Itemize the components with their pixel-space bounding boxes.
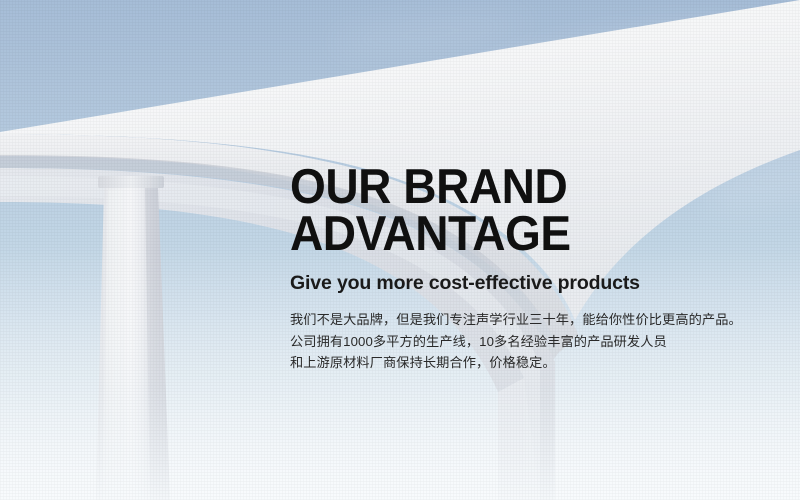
body-line-3: 和上游原材料厂商保持长期合作，价格稳定。	[290, 352, 760, 374]
body-copy: 我们不是大品牌，但是我们专注声学行业三十年，能给你性价比更高的产品。 公司拥有1…	[290, 309, 760, 374]
body-line-2: 公司拥有1000多平方的生产线，10多名经验丰富的产品研发人员	[290, 331, 760, 353]
column-capital	[98, 176, 164, 188]
brand-advantage-banner: OUR BRAND ADVANTAGE Give you more cost-e…	[0, 0, 800, 500]
subtitle: Give you more cost-effective products	[290, 272, 760, 295]
page-title: OUR BRAND ADVANTAGE	[290, 164, 732, 258]
copy-block: OUR BRAND ADVANTAGE Give you more cost-e…	[290, 164, 760, 374]
body-line-1: 我们不是大品牌，但是我们专注声学行业三十年，能给你性价比更高的产品。	[290, 309, 760, 331]
